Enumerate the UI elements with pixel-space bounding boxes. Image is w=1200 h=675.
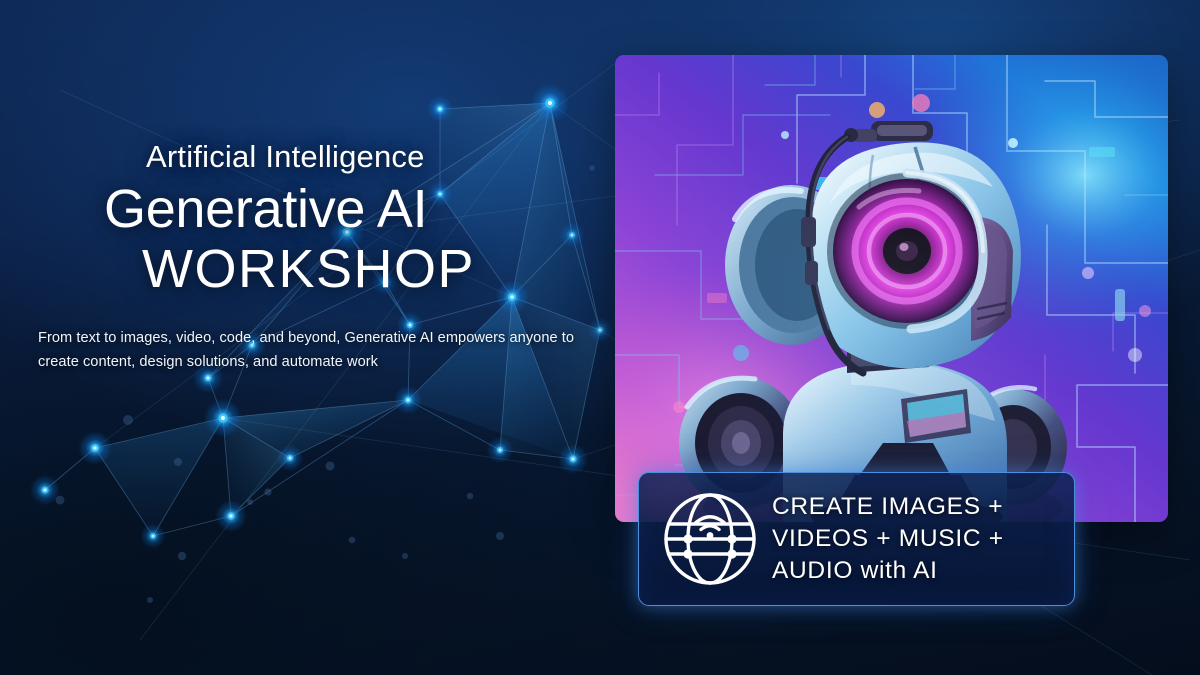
ai-robot-illustration: [615, 55, 1168, 522]
network-node-core: [206, 376, 209, 379]
caption-badge[interactable]: CREATE IMAGES + VIDEOS + MUSIC + AUDIO w…: [638, 472, 1075, 606]
poster-canvas: Artificial Intelligence Generative AI WO…: [0, 0, 1200, 675]
hero-title-line1: Generative AI: [38, 178, 598, 241]
network-node-core: [499, 449, 502, 452]
network-node-core: [93, 446, 97, 450]
network-node-core: [289, 457, 292, 460]
network-node-core: [43, 488, 46, 491]
hero-copy: Artificial Intelligence Generative AI WO…: [38, 140, 598, 374]
network-node-core: [599, 329, 602, 332]
caption-text-block: CREATE IMAGES + VIDEOS + MUSIC + AUDIO w…: [768, 491, 1060, 587]
network-node-core: [548, 101, 552, 105]
caption-line-2: VIDEOS + MUSIC +: [772, 523, 1060, 555]
network-node-core: [152, 535, 155, 538]
network-node-core: [406, 398, 409, 401]
hero-title-line2: WORKSHOP: [38, 239, 598, 299]
caption-line-1: CREATE IMAGES +: [772, 491, 1060, 523]
globe-wifi-network-icon: [652, 481, 768, 597]
network-node-core: [571, 457, 574, 460]
caption-line-3: AUDIO with AI: [772, 555, 1060, 587]
hero-eyebrow: Artificial Intelligence: [38, 140, 598, 174]
network-node-core: [229, 514, 232, 517]
network-node-core: [439, 108, 442, 111]
network-node-core: [221, 416, 225, 420]
hero-description: From text to images, video, code, and be…: [38, 327, 578, 374]
